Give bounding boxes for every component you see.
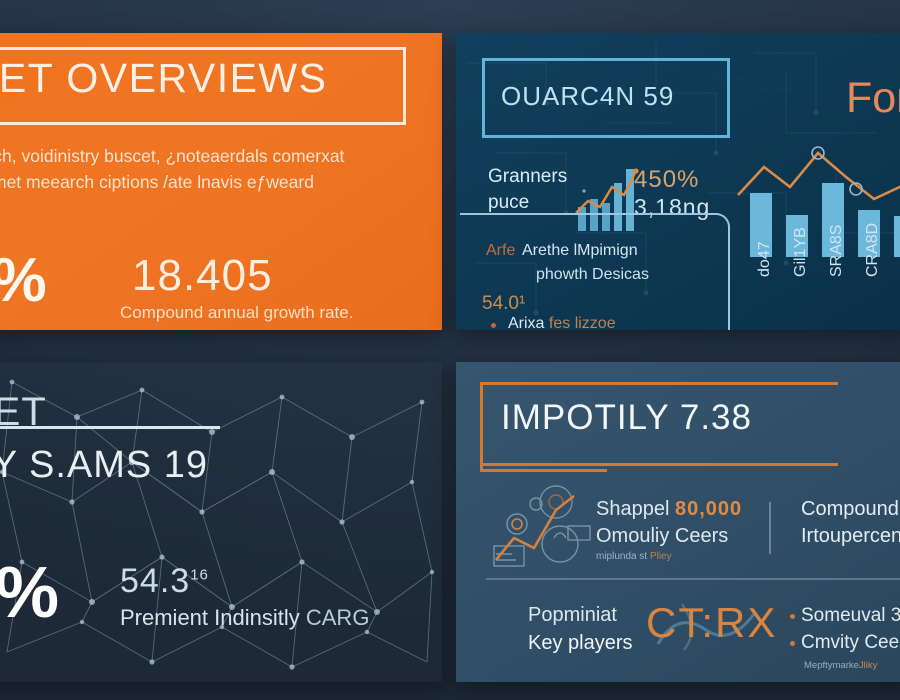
impact-bullet-dot-2 bbox=[790, 641, 795, 646]
industry-share-mid-sup: 16 bbox=[190, 567, 209, 584]
industry-share-subtitle: RY S.AMS 19 bbox=[0, 444, 208, 487]
bar-label-3: CRA8D bbox=[864, 223, 882, 277]
impact-brand-logo: CT:RX bbox=[646, 599, 777, 647]
inner-text-2: Arethe lMpimign bbox=[522, 242, 638, 260]
impact-bullet-1: Someuval 3 bbox=[801, 605, 900, 627]
bar-label-1: Gil1YB bbox=[792, 227, 810, 277]
impact-col2-line2: Irtoupercents bbox=[801, 525, 900, 548]
impact-bullet-2: Cmvity Cee bbox=[801, 632, 899, 654]
impact-fineprint: MepftymarkeJliky bbox=[804, 660, 877, 671]
impact-col1-value: 80,000 bbox=[675, 498, 742, 520]
market-overview-body-line-1: earch, voidinistry buscet, ¿noteaerdals … bbox=[0, 143, 428, 169]
market-overview-mid-stat: 18.405 bbox=[132, 251, 273, 301]
industry-share-mid-value: 54.3 bbox=[120, 562, 190, 600]
svg-text:0100 1101: 0100 1101 bbox=[756, 86, 794, 94]
forecast-word: For bbox=[846, 74, 900, 123]
impact-col1-fine-b: Pliey bbox=[650, 551, 672, 562]
impact-title: IMPOTILY 7.38 bbox=[501, 398, 752, 438]
bar-label-0: do47 bbox=[756, 241, 774, 277]
impact-col2-line1: Compound bbox=[801, 498, 899, 521]
impact-row-divider bbox=[486, 578, 900, 580]
impact-title-rule-bottom bbox=[480, 463, 838, 466]
quadrant-inner-card: Arfe Arethe lMpimign phowth Desicas 54.0… bbox=[460, 213, 730, 330]
inner-text-5b: fes lizzoe bbox=[549, 315, 616, 330]
panel-quadrant-stats: 1011 01100100 1101 1101 OUARC4N 59 For G… bbox=[456, 33, 900, 330]
panel-market-overview: KET OVERVIEWS earch, voidinistry buscet,… bbox=[0, 33, 442, 330]
industry-share-caption-b: CARG bbox=[306, 605, 370, 630]
impact-fine-b: Jliky bbox=[859, 660, 877, 671]
industry-share-mid-stat: 54.316 bbox=[120, 562, 209, 601]
impact-col1-line2: Omouliy Ceers bbox=[596, 525, 728, 548]
inner-text-4: 54.0¹ bbox=[482, 293, 525, 315]
market-overview-big-stat: 3% bbox=[0, 245, 46, 316]
inner-text-5a: Arixa bbox=[508, 315, 544, 330]
process-doodle-icon bbox=[490, 480, 600, 572]
impact-col1-line1: Shappel 80,000 bbox=[596, 498, 742, 521]
market-overview-body-line-2: Awmet meearch ciptions /ate lnavis eƒwea… bbox=[0, 169, 428, 195]
impact-keyplayers-label-2: Key players bbox=[528, 632, 633, 655]
infographic-canvas: KET OVERVIEWS earch, voidinistry buscet,… bbox=[0, 0, 900, 700]
industry-share-divider bbox=[0, 426, 220, 429]
industry-share-mid-caption: Premient Indinsitly CARG bbox=[120, 605, 369, 631]
impact-col1-fine-a: miplunda st bbox=[596, 551, 647, 562]
impact-keyplayers-label-1: Popminiat bbox=[528, 604, 617, 627]
inner-text-1: Arfe bbox=[486, 242, 515, 260]
impact-fine-a: Mepftymarke bbox=[804, 660, 859, 671]
quadrant-title: OUARC4N 59 bbox=[501, 81, 674, 112]
industry-share-caption-a: Premient Indinsitly bbox=[120, 605, 300, 630]
market-overview-title: KET OVERVIEWS bbox=[0, 55, 327, 102]
impact-bullet-dot-1 bbox=[790, 614, 795, 619]
network-pattern-icon bbox=[0, 362, 442, 682]
impact-column-divider bbox=[769, 502, 771, 554]
market-overview-body: earch, voidinistry buscet, ¿noteaerdals … bbox=[0, 143, 428, 195]
panel-impact: IMPOTILY 7.38 Shappel 80,000 Omouliy Cee… bbox=[456, 362, 900, 682]
bar-label-2: SRA8S bbox=[828, 225, 846, 277]
inner-text-5: Arixa fes lizzoe bbox=[508, 315, 616, 330]
quadrant-percent: 450% bbox=[634, 166, 699, 194]
industry-share-big-stat: 8% bbox=[0, 552, 58, 634]
panel-industry-share: KET RY S.AMS 19 8% 54.316 Premient Indin… bbox=[0, 362, 442, 682]
impact-col1-fineprint: miplunda st Pliey bbox=[596, 551, 672, 562]
inner-text-3: phowth Desicas bbox=[536, 266, 649, 284]
market-overview-mid-caption: Compound annual growth rate. bbox=[120, 303, 353, 323]
impact-col1-line1-label: Shappel bbox=[596, 498, 669, 520]
impact-title-rule-top bbox=[480, 382, 838, 385]
inner-bullet-dot bbox=[491, 323, 496, 328]
